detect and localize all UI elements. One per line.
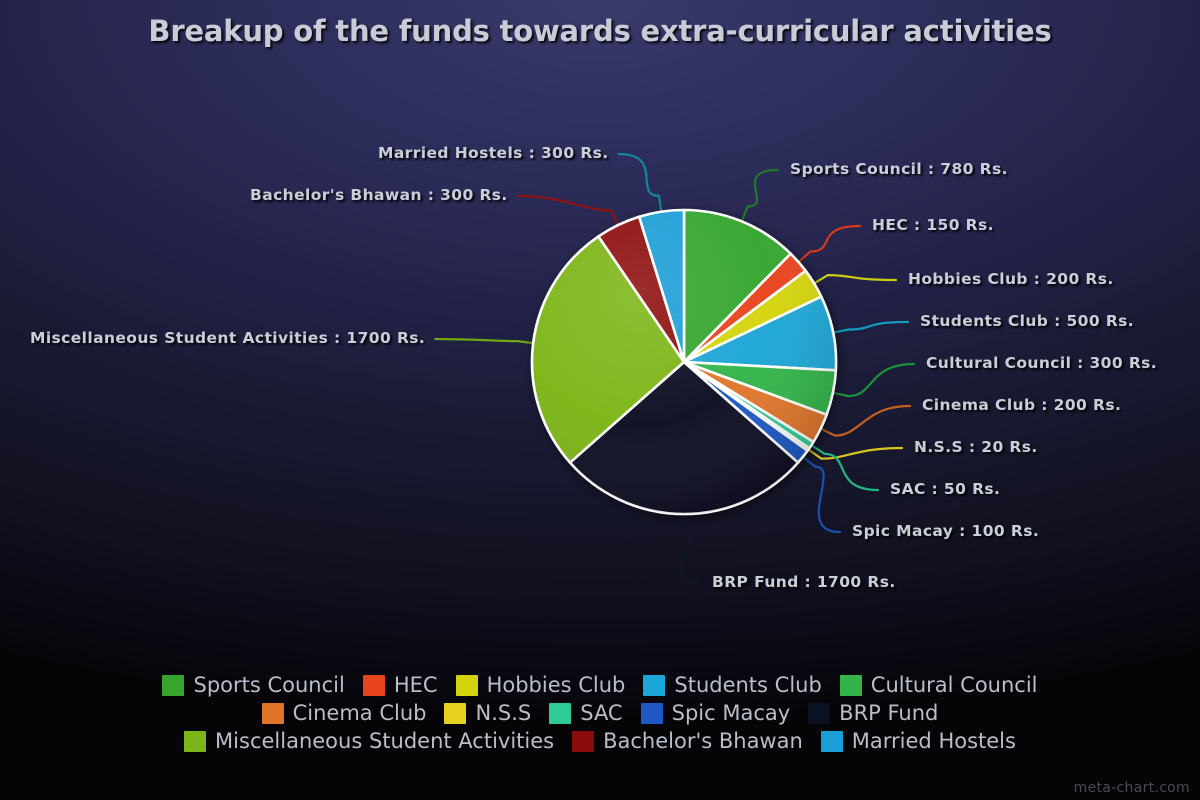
legend-item-n-s-s[interactable]: N.S.S [444,700,531,726]
legend-item-sac[interactable]: SAC [549,700,622,726]
leader-line-married-hostels [619,154,662,216]
leader-line-cinema-club [817,406,910,436]
callout-label-students-club: Students Club : 500 Rs. [920,312,1134,330]
legend-swatch-married-hostels [821,731,843,752]
legend-item-cinema-club[interactable]: Cinema Club [262,700,427,726]
callout-label-miscellaneous-student-activities: Miscellaneous Student Activities : 1700 … [30,329,425,347]
legend-item-spic-macay[interactable]: Spic Macay [641,700,791,726]
leader-line-brp-fund [681,510,700,583]
legend-item-married-hostels[interactable]: Married Hostels [821,728,1016,754]
callout-label-cinema-club: Cinema Club : 200 Rs. [922,396,1121,414]
legend-label-sac: SAC [580,700,622,726]
watermark: meta-chart.com [1074,780,1190,796]
legend-label-hobbies-club: Hobbies Club [487,672,626,698]
legend-label-cultural-council: Cultural Council [871,672,1038,698]
legend-label-miscellaneous-student-activities: Miscellaneous Student Activities [215,728,554,754]
legend-swatch-brp-fund [808,703,830,724]
legend-swatch-spic-macay [641,703,663,724]
callout-label-bachelor-s-bhawan: Bachelor's Bhawan : 300 Rs. [250,186,508,204]
legend-row: Sports CouncilHECHobbies ClubStudents Cl… [153,672,1046,698]
leader-line-miscellaneous-student-activities [435,339,537,344]
legend-item-hobbies-club[interactable]: Hobbies Club [456,672,626,698]
leader-line-hobbies-club [811,275,896,285]
legend-label-hec: HEC [394,672,438,698]
legend-label-n-s-s: N.S.S [475,700,531,726]
callout-label-sac: SAC : 50 Rs. [890,480,1000,498]
callout-label-spic-macay: Spic Macay : 100 Rs. [852,522,1039,540]
legend-item-bachelor-s-bhawan[interactable]: Bachelor's Bhawan [572,728,803,754]
legend-swatch-cinema-club [262,703,284,724]
legend-swatch-cultural-council [840,675,862,696]
legend-swatch-miscellaneous-student-activities [184,731,206,752]
legend-label-spic-macay: Spic Macay [672,700,791,726]
legend-item-brp-fund[interactable]: BRP Fund [808,700,938,726]
legend-label-cinema-club: Cinema Club [293,700,427,726]
legend-row: Cinema ClubN.S.SSACSpic MacayBRP Fund [253,700,948,726]
legend-swatch-n-s-s [444,703,466,724]
legend-item-hec[interactable]: HEC [363,672,438,698]
callout-label-brp-fund: BRP Fund : 1700 Rs. [712,573,896,591]
leader-line-spic-macay [800,454,840,532]
legend-label-married-hostels: Married Hostels [852,728,1016,754]
legend-swatch-hobbies-club [456,675,478,696]
legend-item-cultural-council[interactable]: Cultural Council [840,672,1038,698]
callout-label-sports-council: Sports Council : 780 Rs. [790,160,1008,178]
legend-swatch-hec [363,675,385,696]
callout-label-married-hostels: Married Hostels : 300 Rs. [378,144,609,162]
legend-item-sports-council[interactable]: Sports Council [162,672,344,698]
legend-swatch-sac [549,703,571,724]
callout-label-cultural-council: Cultural Council : 300 Rs. [926,354,1157,372]
leader-line-sports-council [740,170,778,225]
callout-label-hobbies-club: Hobbies Club : 200 Rs. [908,270,1114,288]
callout-label-hec: HEC : 150 Rs. [872,216,994,234]
callout-label-n-s-s: N.S.S : 20 Rs. [914,438,1038,456]
legend-row: Miscellaneous Student ActivitiesBachelor… [175,728,1025,754]
leader-line-hec [796,226,861,265]
leader-line-cultural-council [829,364,914,396]
pie-slices-group [532,210,836,514]
legend-label-sports-council: Sports Council [193,672,344,698]
chart-legend: Sports CouncilHECHobbies ClubStudents Cl… [0,672,1200,754]
legend-swatch-students-club [643,675,665,696]
leader-line-bachelor-s-bhawan [518,196,620,229]
leader-line-n-s-s [805,447,902,459]
leader-line-students-club [829,322,908,333]
legend-swatch-sports-council [162,675,184,696]
legend-item-miscellaneous-student-activities[interactable]: Miscellaneous Student Activities [184,728,554,754]
legend-item-students-club[interactable]: Students Club [643,672,821,698]
legend-label-students-club: Students Club [674,672,821,698]
legend-label-bachelor-s-bhawan: Bachelor's Bhawan [603,728,803,754]
legend-label-brp-fund: BRP Fund [839,700,938,726]
legend-swatch-bachelor-s-bhawan [572,731,594,752]
pie-chart-page: Breakup of the funds towards extra-curri… [0,0,1200,800]
